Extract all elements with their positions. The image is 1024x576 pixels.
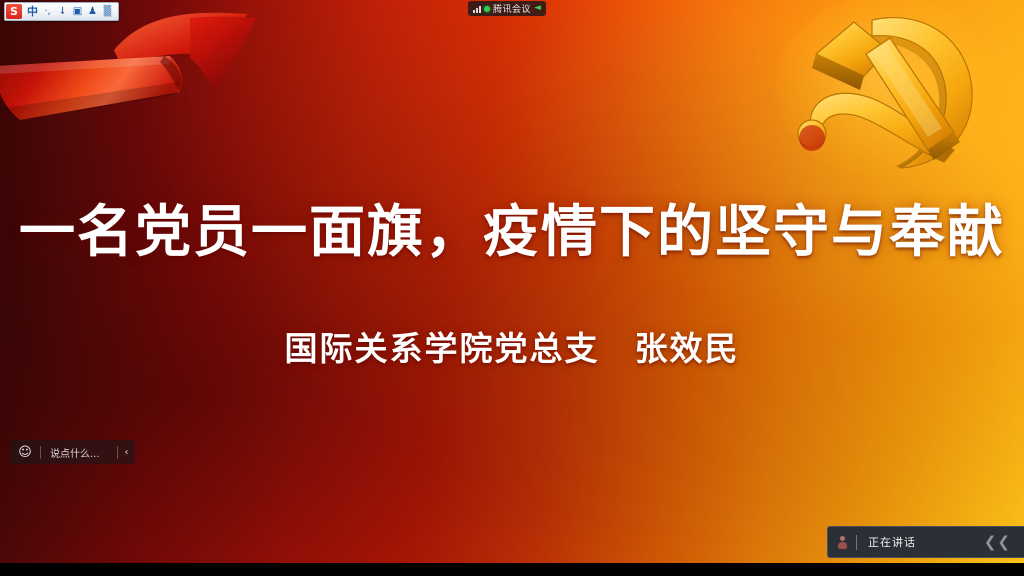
presentation-slide: 一名党员一面旗，疫情下的坚守与奉献 国际关系学院党总支 张效民 ☺ 说点什么..… — [0, 0, 1024, 563]
speaking-indicator-bar[interactable]: 正在讲话 ❮ ❮ — [827, 526, 1024, 558]
ime-screenshot-icon[interactable]: ▣ — [70, 4, 85, 19]
ime-skin-icon[interactable]: ♟ — [85, 4, 100, 19]
speaker-avatar — [828, 527, 856, 557]
chevron-left-icon-1[interactable]: ❮ — [984, 535, 997, 550]
red-ribbon-decoration — [0, 8, 264, 133]
ime-mode-chinese-icon[interactable]: 中 — [25, 4, 40, 19]
chevron-left-icon[interactable]: ‹ — [118, 440, 135, 464]
connected-status-dot — [484, 6, 490, 12]
ime-punctuation-toggle-icon[interactable]: ·, — [40, 4, 55, 19]
comment-input[interactable]: 说点什么... — [41, 445, 117, 460]
bottom-letterbox-bar — [0, 563, 1024, 576]
slide-subtitle: 国际关系学院党总支 张效民 — [0, 322, 1024, 370]
collapse-arrows[interactable]: ❮ ❮ — [984, 535, 1024, 550]
person-icon — [837, 536, 848, 549]
speaker-icon[interactable]: ◄ — [534, 4, 541, 13]
ime-toolbar[interactable]: S 中 ·, ⭣ ▣ ♟ ▒ — [4, 2, 119, 21]
comment-input-bar[interactable]: ☺ 说点什么... ‹ — [10, 440, 135, 464]
slide-title: 一名党员一面旗，疫情下的坚守与奉献 — [0, 203, 1024, 262]
chevron-left-icon-2[interactable]: ❮ — [997, 535, 1010, 550]
hammer-and-sickle-emblem — [768, 0, 998, 184]
screen-root: 一名党员一面旗，疫情下的坚守与奉献 国际关系学院党总支 张效民 ☺ 说点什么..… — [0, 0, 1024, 576]
signal-strength-icon — [473, 5, 481, 13]
ime-voice-input-icon[interactable]: ⭣ — [55, 4, 70, 19]
speaking-status-label: 正在讲话 — [857, 534, 984, 550]
sogou-logo-icon[interactable]: S — [6, 4, 22, 19]
ime-toolbox-icon[interactable]: ▒ — [100, 4, 115, 19]
emoji-picker-icon[interactable]: ☺ — [10, 440, 40, 464]
meeting-status-pill[interactable]: 腾讯会议 ◄ — [468, 1, 546, 16]
slide-vignette — [0, 0, 1024, 563]
meeting-app-label: 腾讯会议 — [493, 2, 531, 15]
